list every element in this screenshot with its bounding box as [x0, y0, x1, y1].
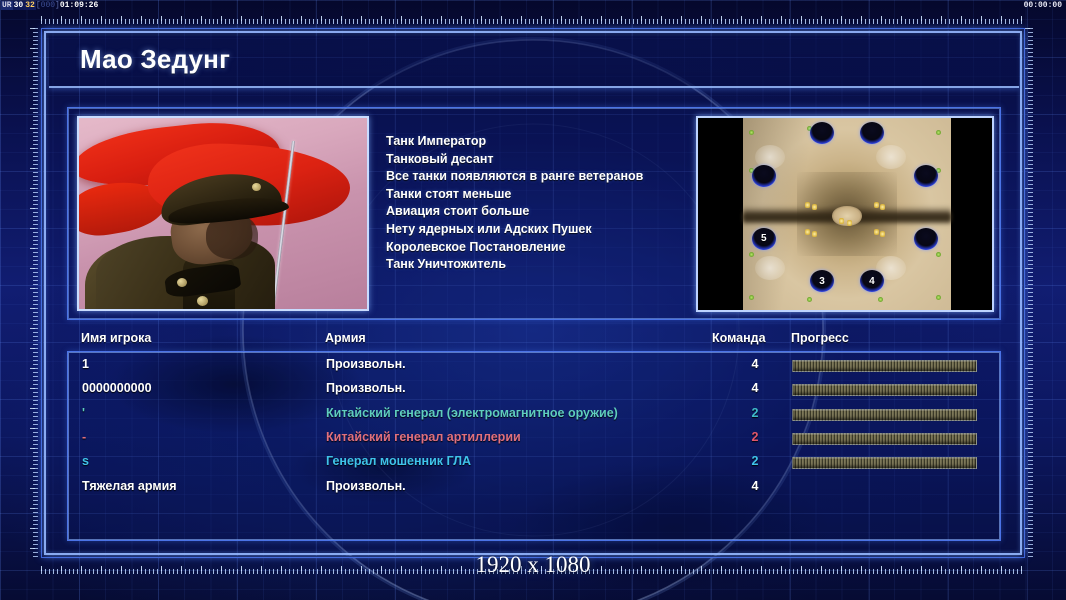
general-bonus-list: Танк ИмператорТанковый десантВсе танки п… [386, 133, 716, 274]
map-supply-dock [749, 295, 754, 300]
map-preview[interactable]: 534 [696, 116, 994, 312]
player-table-body: 1Произвольн.40000000000Произвольн.4'Кита… [67, 351, 1001, 541]
map-start-position [752, 165, 776, 187]
status-num2: 32 [24, 1, 36, 10]
player-team-cell[interactable]: 2 [733, 454, 777, 468]
map-terrain-spot [755, 256, 785, 280]
table-row[interactable]: Тяжелая армияПроизвольн.4 [68, 476, 1000, 500]
map-oil-derrick [812, 204, 817, 210]
general-bonus-item: Королевское Постановление [386, 239, 716, 257]
portrait-button-lower [197, 296, 208, 306]
map-oil-derrick [874, 202, 879, 208]
status-countdown-timer: 00:00:00 [1024, 0, 1062, 11]
general-bonus-item: Все танки появляются в ранге ветеранов [386, 168, 716, 186]
player-name-cell: 0000000000 [82, 381, 152, 395]
player-team-cell[interactable]: 4 [733, 479, 777, 493]
ruler-right [1025, 28, 1036, 558]
map-supply-dock [936, 295, 941, 300]
column-header-team: Команда [712, 331, 766, 345]
player-team-cell[interactable]: 4 [733, 357, 777, 371]
table-row[interactable]: sГенерал мошенник ГЛА2 [68, 451, 1000, 475]
player-name-cell: ' [82, 406, 85, 420]
map-start-position [914, 165, 938, 187]
status-elapsed-time: 01:09:26 [60, 1, 98, 10]
map-oil-derrick [812, 231, 817, 237]
table-row[interactable]: 'Китайский генерал (электромагнитное ору… [68, 403, 1000, 427]
player-army-cell[interactable]: Произвольн. [326, 381, 406, 395]
map-oil-derrick [847, 220, 852, 226]
table-row[interactable]: -Китайский генерал артиллерии2 [68, 427, 1000, 451]
title-bar: Мао Зедунг [49, 36, 1019, 88]
general-bonus-item: Танк Император [386, 133, 716, 151]
map-start-position [860, 122, 884, 144]
map-start-position: 5 [752, 228, 776, 250]
general-bonus-item: Нету ядерных или Адских Пушек [386, 221, 716, 239]
map-image: 534 [743, 118, 951, 310]
player-progress-bar [792, 457, 977, 469]
column-header-player-name: Имя игрока [81, 331, 151, 345]
player-army-cell[interactable]: Китайский генерал (электромагнитное оруж… [326, 406, 618, 420]
map-terrain-spot [876, 145, 906, 169]
status-bar: UR3032[000]01:09:26 00:00:00 [0, 0, 1066, 11]
table-row[interactable]: 1Произвольн.4 [68, 354, 1000, 378]
game-lobby-screen: UR3032[000]01:09:26 00:00:00 Мао Зедунг [0, 0, 1066, 600]
player-name-cell: - [82, 430, 86, 444]
player-name-cell: Тяжелая армия [82, 479, 177, 493]
map-oil-derrick [880, 204, 885, 210]
player-progress-bar [792, 433, 977, 445]
main-panel: Мао Зедунг [41, 28, 1025, 558]
portrait-cap-badge [252, 183, 261, 191]
map-start-position [810, 122, 834, 144]
map-supply-dock [749, 130, 754, 135]
player-table-header: Имя игрока Армия Команда Прогресс [67, 329, 1001, 351]
ruler-left [30, 28, 41, 558]
player-team-cell[interactable]: 2 [733, 430, 777, 444]
resolution-label: 1920 x 1080 [0, 552, 1066, 578]
map-oil-derrick [839, 218, 844, 224]
ruler-top [41, 16, 1025, 27]
player-army-cell[interactable]: Произвольн. [326, 479, 406, 493]
player-team-cell[interactable]: 4 [733, 381, 777, 395]
map-supply-dock [936, 252, 941, 257]
table-row[interactable]: 0000000000Произвольн.4 [68, 378, 1000, 402]
status-num3: 000 [41, 1, 55, 10]
map-oil-derrick [880, 231, 885, 237]
page-title: Мао Зедунг [80, 44, 230, 75]
column-header-army: Армия [325, 331, 366, 345]
status-bar-left: UR3032[000]01:09:26 [1, 0, 98, 11]
status-num1: 30 [13, 1, 25, 10]
general-bonus-item: Танковый десант [386, 151, 716, 169]
player-team-cell[interactable]: 2 [733, 406, 777, 420]
general-bonus-item: Танк Уничтожитель [386, 256, 716, 274]
player-army-cell[interactable]: Генерал мошенник ГЛА [326, 454, 471, 468]
player-progress-bar [792, 384, 977, 396]
general-info-panel: Танк ИмператорТанковый десантВсе танки п… [67, 107, 1001, 320]
map-supply-dock [936, 130, 941, 135]
general-bonus-item: Танки стоят меньше [386, 186, 716, 204]
column-header-progress: Прогресс [791, 331, 849, 345]
map-start-position: 4 [860, 270, 884, 292]
general-bonus-item: Авиация стоит больше [386, 203, 716, 221]
player-name-cell: s [82, 454, 89, 468]
map-start-position [914, 228, 938, 250]
map-oil-derrick [874, 229, 879, 235]
player-progress-bar [792, 360, 977, 372]
map-supply-dock [749, 252, 754, 257]
status-tag: UR [1, 1, 13, 10]
map-supply-dock [807, 297, 812, 302]
player-progress-bar [792, 409, 977, 421]
player-army-cell[interactable]: Произвольн. [326, 357, 406, 371]
player-army-cell[interactable]: Китайский генерал артиллерии [326, 430, 521, 444]
map-supply-dock [878, 297, 883, 302]
map-start-position: 3 [810, 270, 834, 292]
general-portrait [77, 116, 369, 311]
player-name-cell: 1 [82, 357, 89, 371]
